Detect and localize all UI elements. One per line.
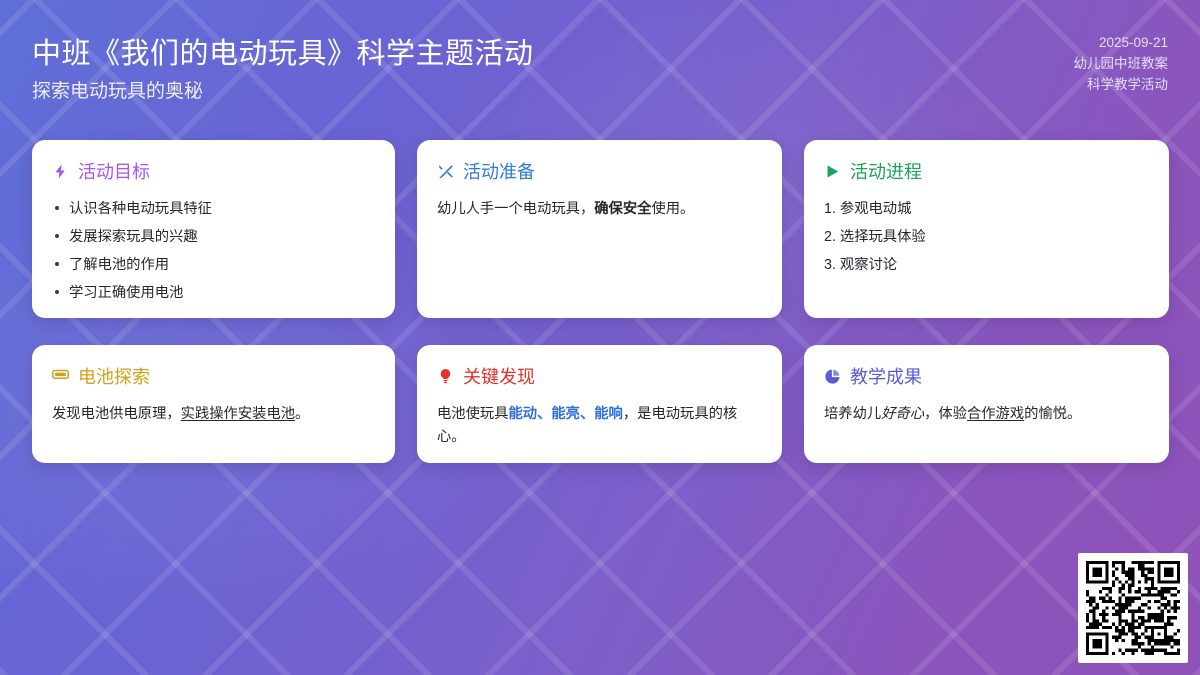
card-title: 活动准备 <box>463 158 535 184</box>
card-title: 电池探索 <box>78 363 150 389</box>
lightbulb-icon <box>437 368 454 385</box>
card-body: 认识各种电动玩具特征发展探索玩具的兴趣了解电池的作用学习正确使用电池 <box>52 198 375 306</box>
card-paragraph: 发现电池供电原理，实践操作安装电池。 <box>52 403 375 426</box>
card-paragraph: 幼儿人手一个电动玩具，确保安全使用。 <box>437 198 762 221</box>
card-list: 认识各种电动玩具特征发展探索玩具的兴趣了解电池的作用学习正确使用电池 <box>52 198 375 306</box>
text-span: 发现电池供电原理， <box>52 406 181 422</box>
card-title: 活动进程 <box>850 158 922 184</box>
text-span: 使用。 <box>651 201 694 217</box>
header-meta: 2025-09-21 幼儿园中班教案 科学教学活动 <box>1074 33 1169 96</box>
slide-root: 中班《我们的电动玩具》科学主题活动 探索电动玩具的奥秘 2025-09-21 幼… <box>0 0 1200 675</box>
text-span: 能动、能亮、能响 <box>508 406 622 422</box>
lightning-bolt-icon <box>52 163 69 180</box>
battery-icon <box>52 368 69 385</box>
pie-chart-icon <box>824 368 841 385</box>
list-item: 了解电池的作用 <box>52 254 375 277</box>
card-header: 活动目标 <box>52 158 375 184</box>
card-header: 关键发现 <box>437 363 762 389</box>
list-item: 参观电动城 <box>824 198 1149 221</box>
card-title: 关键发现 <box>463 363 535 389</box>
list-item: 认识各种电动玩具特征 <box>52 198 375 221</box>
header-meta-line2: 幼儿园中班教案 <box>1074 54 1169 75</box>
card-grid: 活动目标认识各种电动玩具特征发展探索玩具的兴趣了解电池的作用学习正确使用电池活动… <box>32 140 1168 463</box>
header-date: 2025-09-21 <box>1074 33 1169 54</box>
header-meta-line3: 科学教学活动 <box>1074 75 1169 96</box>
card-list: 参观电动城选择玩具体验观察讨论 <box>824 198 1149 277</box>
card-paragraph: 电池使玩具能动、能亮、能响，是电动玩具的核心。 <box>437 403 762 449</box>
text-span: ，体验 <box>924 406 967 422</box>
card-key-findings: 关键发现电池使玩具能动、能亮、能响，是电动玩具的核心。 <box>417 345 782 463</box>
card-teaching-outcomes: 教学成果培养幼儿好奇心，体验合作游戏的愉悦。 <box>804 345 1169 463</box>
text-span: 培养幼儿 <box>824 406 881 422</box>
text-span: 幼儿人手一个电动玩具， <box>437 201 594 217</box>
card-header: 教学成果 <box>824 363 1149 389</box>
card-body: 幼儿人手一个电动玩具，确保安全使用。 <box>437 198 762 221</box>
card-body: 培养幼儿好奇心，体验合作游戏的愉悦。 <box>824 403 1149 426</box>
text-span: 确保安全 <box>594 201 651 217</box>
slide-header: 中班《我们的电动玩具》科学主题活动 探索电动玩具的奥秘 2025-09-21 幼… <box>0 0 1200 125</box>
text-span: 的愉悦。 <box>1024 406 1081 422</box>
text-span: 电池使玩具 <box>437 406 508 422</box>
card-paragraph: 培养幼儿好奇心，体验合作游戏的愉悦。 <box>824 403 1149 426</box>
qr-code-image <box>1086 561 1180 655</box>
crossed-tools-icon <box>437 163 454 180</box>
qr-code[interactable] <box>1078 553 1188 663</box>
text-span: 好奇心 <box>881 406 924 422</box>
list-item: 学习正确使用电池 <box>52 282 375 305</box>
page-subtitle: 探索电动玩具的奥秘 <box>32 76 203 103</box>
card-activity-goals: 活动目标认识各种电动玩具特征发展探索玩具的兴趣了解电池的作用学习正确使用电池 <box>32 140 395 318</box>
list-item: 选择玩具体验 <box>824 226 1149 249</box>
card-activity-preparation: 活动准备幼儿人手一个电动玩具，确保安全使用。 <box>417 140 782 318</box>
text-span: 。 <box>295 406 309 422</box>
card-title: 活动目标 <box>78 158 150 184</box>
card-body: 参观电动城选择玩具体验观察讨论 <box>824 198 1149 277</box>
page-title: 中班《我们的电动玩具》科学主题活动 <box>32 30 534 72</box>
play-triangle-icon <box>824 163 841 180</box>
card-title: 教学成果 <box>850 363 922 389</box>
card-battery-exploration: 电池探索发现电池供电原理，实践操作安装电池。 <box>32 345 395 463</box>
card-header: 活动准备 <box>437 158 762 184</box>
text-span: 合作游戏 <box>967 406 1024 422</box>
card-header: 电池探索 <box>52 363 375 389</box>
card-header: 活动进程 <box>824 158 1149 184</box>
list-item: 观察讨论 <box>824 254 1149 277</box>
card-body: 电池使玩具能动、能亮、能响，是电动玩具的核心。 <box>437 403 762 449</box>
list-item: 发展探索玩具的兴趣 <box>52 226 375 249</box>
text-span: 实践操作安装电池 <box>181 406 295 422</box>
card-activity-process: 活动进程参观电动城选择玩具体验观察讨论 <box>804 140 1169 318</box>
card-body: 发现电池供电原理，实践操作安装电池。 <box>52 403 375 426</box>
